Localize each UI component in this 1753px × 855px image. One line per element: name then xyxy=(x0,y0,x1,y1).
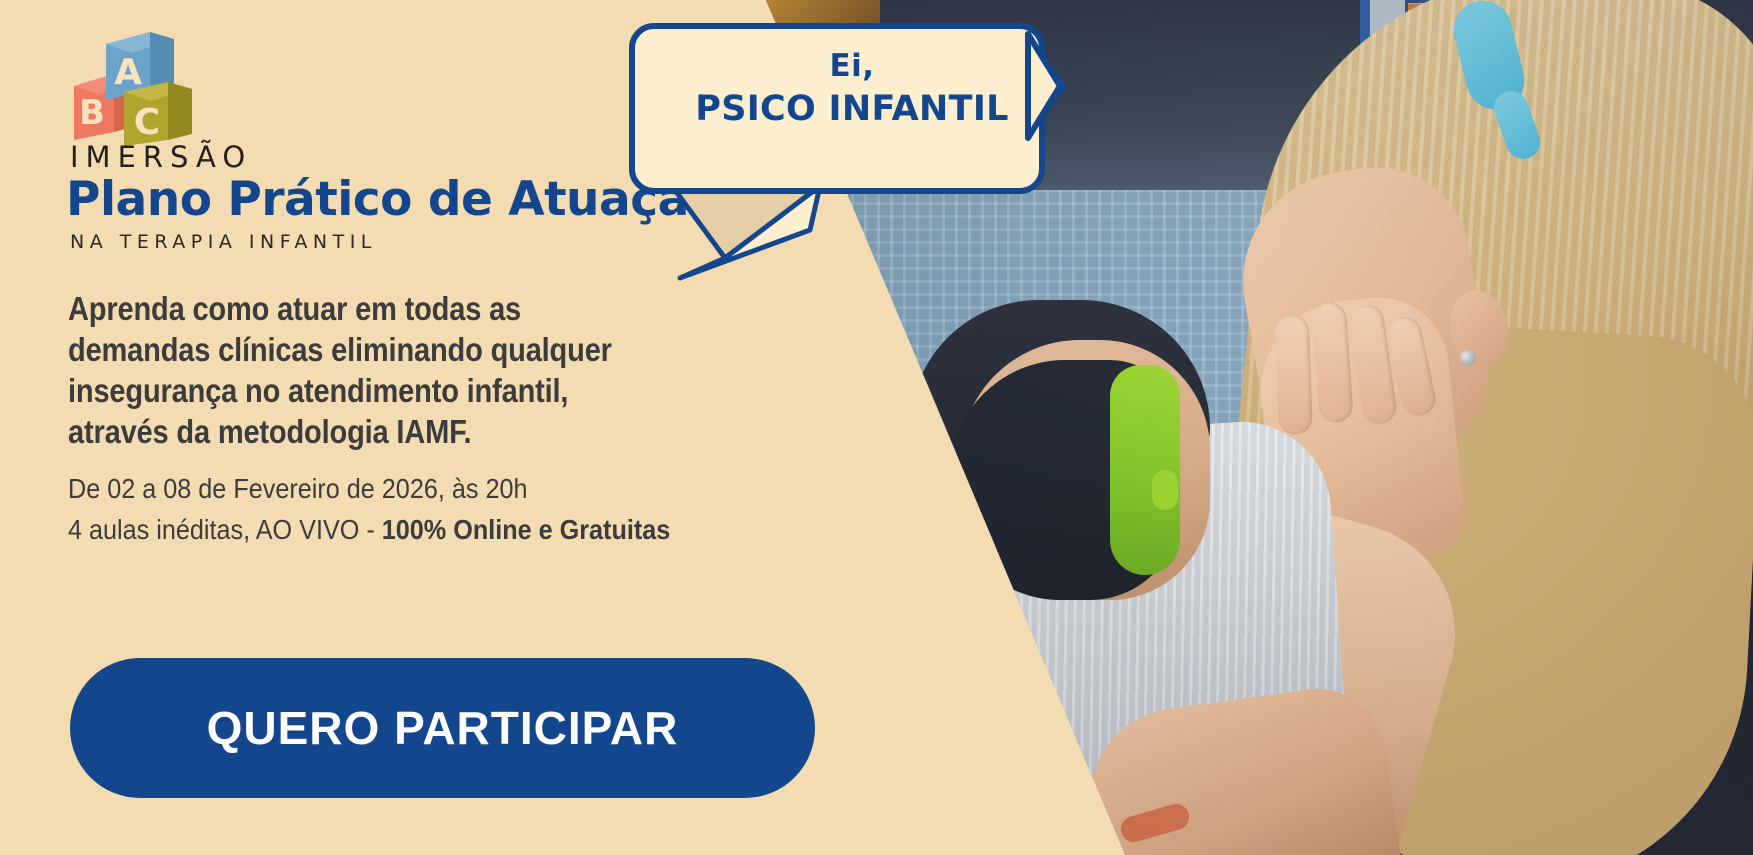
speech-bubble-body xyxy=(632,26,1042,191)
promo-banner: B A C IMERSÃO Plano Prático de xyxy=(0,0,1753,855)
photo-earring xyxy=(1460,350,1476,366)
quero-participar-button[interactable]: QUERO PARTICIPAR xyxy=(70,658,815,798)
block-c-icon: C xyxy=(124,82,192,146)
svg-text:B: B xyxy=(79,93,105,133)
speech-bubble: Ei, PSICO INFANTIL xyxy=(620,8,1080,308)
abc-blocks-logo: B A C xyxy=(70,28,210,146)
photo-headphone-knob xyxy=(1152,470,1178,510)
lead-line-2: demandas clínicas eliminando qualquer xyxy=(68,329,719,370)
photo-finger xyxy=(1275,314,1313,435)
page-subtitle: NA TERAPIA INFANTIL xyxy=(70,231,377,253)
lead-line-4: através da metodologia IAMF. xyxy=(68,411,719,452)
svg-text:A: A xyxy=(114,52,142,93)
photo-finger xyxy=(1312,301,1354,423)
event-classes-prefix: 4 aulas inéditas, AO VIVO - xyxy=(68,514,382,545)
photo-finger xyxy=(1348,302,1398,426)
cta-label: QUERO PARTICIPAR xyxy=(207,701,679,755)
lead-paragraph: Aprenda como atuar em todas as demandas … xyxy=(68,288,719,452)
event-date: De 02 a 08 de Fevereiro de 2026, às 20h xyxy=(68,468,878,509)
event-details: De 02 a 08 de Fevereiro de 2026, às 20h … xyxy=(68,468,878,550)
speech-bubble-tail xyxy=(672,186,820,278)
lead-line-3: insegurança no atendimento infantil, xyxy=(68,370,719,411)
svg-text:C: C xyxy=(134,102,160,143)
event-classes: 4 aulas inéditas, AO VIVO - 100% Online … xyxy=(68,509,878,550)
eyebrow-label: IMERSÃO xyxy=(70,140,252,174)
event-classes-highlight: 100% Online e Gratuitas xyxy=(382,514,671,545)
